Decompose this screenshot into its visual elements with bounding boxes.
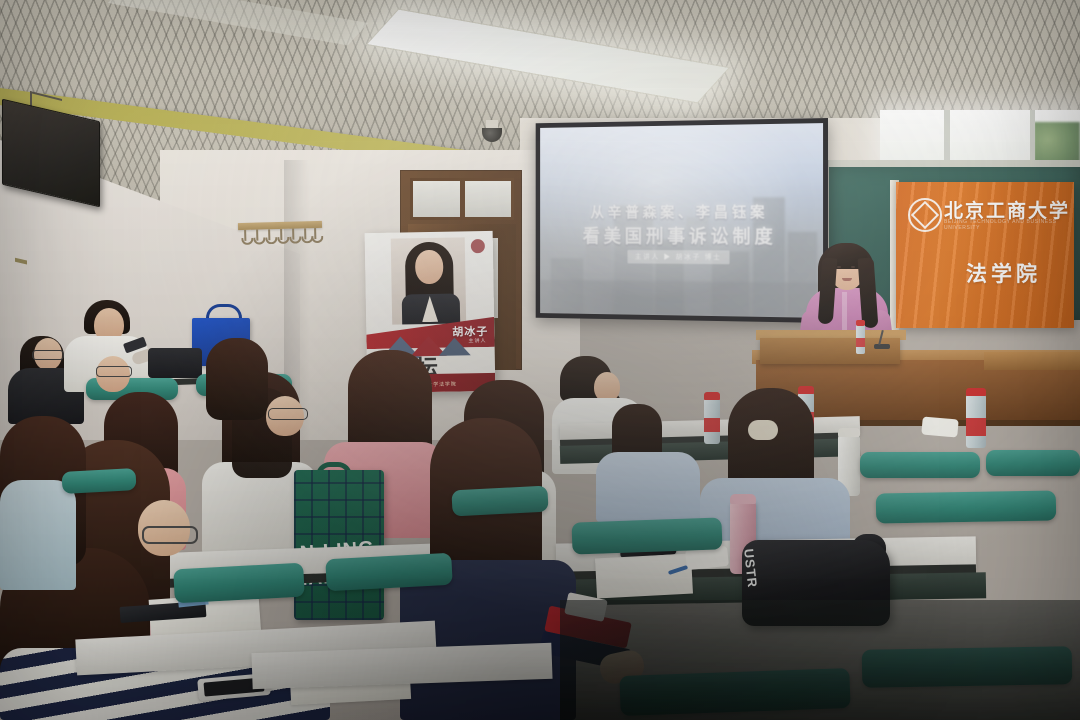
chair-back[interactable]: [571, 517, 722, 554]
water-bottle-cap: [798, 386, 814, 394]
poster-badge-icon: [471, 239, 485, 253]
student-torso: [0, 480, 76, 590]
transom-mullion: [460, 178, 465, 220]
water-bottle-label: [704, 418, 720, 432]
chalkboard-rail-top: [826, 160, 1080, 167]
chair-back[interactable]: [173, 563, 305, 604]
chair-back[interactable]: [451, 486, 548, 517]
student-hair: [206, 338, 268, 420]
chair-back[interactable]: [986, 450, 1080, 476]
thermos-cap: [838, 428, 860, 437]
poster-speaker-role: 主讲人: [468, 337, 486, 344]
chair-back[interactable]: [325, 553, 453, 592]
glasses-icon: [32, 350, 64, 360]
poster-speaker-photo: [391, 237, 466, 324]
water-bottle-label: [856, 338, 865, 347]
banner-department-name: 法学院: [966, 258, 1080, 288]
glasses-icon: [96, 366, 132, 377]
thermos-cap: [730, 494, 756, 504]
classroom-scene: 北京工商大学 BEIJING TECHNOLOGY AND BUSINESS U…: [0, 0, 1080, 720]
presenter-eye: [837, 266, 841, 268]
microphone-base: [874, 344, 890, 349]
presenter-mouth: [842, 278, 852, 281]
water-bottle-cap: [704, 392, 720, 400]
glasses-icon: [268, 408, 308, 420]
glasses-icon: [142, 526, 198, 544]
chair-back[interactable]: [876, 490, 1056, 523]
water-bottle-cap: [856, 320, 865, 326]
water-bottle-label: [966, 418, 986, 436]
chair-back[interactable]: [61, 468, 136, 494]
black-bag: [148, 348, 202, 378]
banner-university-name-en: BEIJING TECHNOLOGY AND BUSINESS UNIVERSI…: [944, 219, 1074, 231]
floor-shadow: [560, 600, 1080, 720]
projection-screen-surface: 从辛普森案、李昌钰案 看美国刑事诉讼制度 主讲人 ▶ 胡冰子 博士: [540, 123, 823, 318]
water-bottle-cap: [966, 388, 986, 396]
tissue-pack: [921, 416, 958, 437]
presenter-eye: [851, 266, 855, 268]
poster-triangle: [438, 337, 470, 356]
hair-tie: [748, 420, 778, 440]
podium-side-panel: [984, 352, 1080, 370]
chair-back[interactable]: [860, 452, 980, 478]
student-torso: [596, 452, 700, 522]
screen-glare: [540, 123, 678, 318]
poster-photo-face: [415, 250, 444, 284]
projection-screen: 从辛普森案、李昌钰案 看美国刑事诉讼制度 主讲人 ▶ 胡冰子 博士: [536, 118, 828, 323]
notebook: [595, 554, 693, 599]
